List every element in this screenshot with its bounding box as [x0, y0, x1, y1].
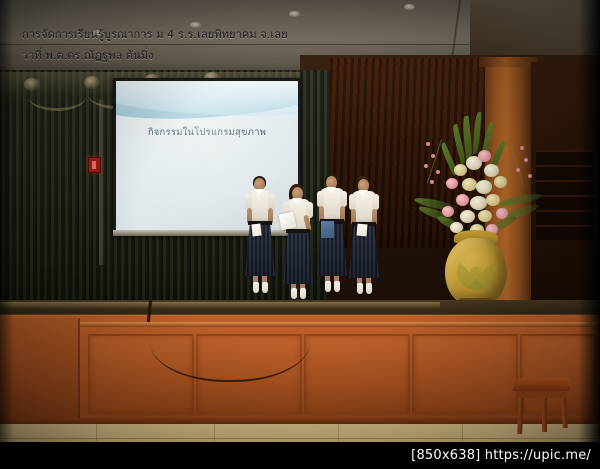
flower-bloom	[484, 164, 499, 177]
student-3	[316, 174, 346, 306]
gold-vase	[445, 238, 507, 304]
sock-shoe	[253, 282, 259, 293]
flower-arrangement	[412, 112, 542, 332]
side-table	[512, 378, 570, 436]
sock-shoe	[334, 281, 340, 292]
shirt-sleeve	[372, 194, 379, 210]
sock-shoe	[300, 288, 306, 299]
sock-shoe	[357, 283, 363, 294]
school-skirt	[283, 232, 313, 284]
shirt-sleeve	[245, 193, 252, 209]
door-frame-edge	[99, 100, 105, 265]
valance-ornament	[24, 78, 40, 91]
paper-script	[279, 212, 297, 231]
student-4	[348, 176, 378, 308]
ceiling-seam	[0, 44, 470, 45]
student-1	[244, 176, 274, 306]
pillar-cap	[479, 57, 537, 67]
flower-bloom	[456, 194, 469, 206]
flower-bud	[516, 168, 520, 172]
downlight-icon	[289, 11, 300, 17]
sock-shoe	[366, 283, 372, 294]
flower-bud	[431, 154, 435, 158]
flower-bloom	[446, 178, 458, 189]
paper-sheet	[356, 224, 367, 237]
floor-grout-line	[0, 438, 600, 439]
table-leg	[517, 398, 524, 434]
audio-cable	[150, 300, 310, 382]
paper-sheet	[251, 224, 261, 237]
valance-ornament	[84, 76, 100, 89]
flower-bud	[520, 146, 524, 150]
flower-bloom	[478, 150, 491, 162]
shirt-sleeve	[349, 194, 356, 210]
shirt-sleeve	[340, 191, 347, 207]
sock-shoe	[262, 282, 268, 293]
flower-bloom	[496, 208, 508, 219]
flower-bloom	[470, 196, 487, 210]
exit-sign-icon	[88, 157, 101, 173]
flower-bloom	[462, 178, 477, 191]
flower-bud	[424, 164, 428, 168]
flower-bloom	[476, 180, 492, 194]
table-apron	[516, 391, 566, 398]
flower-bloom	[442, 206, 454, 217]
caption-line-2: ว่าที่ พ.ต.ดร.ณัฏฐพล ตันมิ่ง	[22, 50, 154, 62]
sock-shoe	[291, 288, 297, 299]
downlight-icon	[404, 4, 415, 10]
watermark-text: [850x638] https://upic.me/	[411, 448, 591, 463]
auditorium-scene: กิจกรรมในโปรแกรมสุขภาพ	[0, 0, 600, 469]
belt	[286, 229, 310, 233]
flower-bud	[528, 174, 532, 178]
watermark-bar: [850x638] https://upic.me/	[0, 442, 600, 469]
photo-frame: กิจกรรมในโปรแกรมสุขภาพ	[0, 0, 600, 469]
table-leg	[561, 398, 568, 428]
slide-title: กิจกรรมในโปรแกรมสุขภาพ	[116, 125, 298, 140]
stage-step	[0, 318, 80, 428]
flower-bud	[426, 142, 430, 146]
blue-folder	[321, 221, 334, 238]
vase-motif	[457, 254, 495, 290]
flower-bloom	[494, 176, 507, 188]
stage-panel	[412, 334, 518, 416]
shirt-sleeve	[268, 193, 275, 209]
sock-shoe	[325, 281, 331, 292]
flower-bloom	[486, 194, 500, 206]
student-2	[282, 184, 312, 310]
flower-bud	[524, 158, 528, 162]
stage-panel	[304, 334, 410, 416]
table-leg	[542, 398, 547, 432]
wall-texture	[536, 150, 594, 240]
flower-bud	[436, 170, 440, 174]
table-top	[512, 378, 570, 391]
flower-bud	[430, 180, 434, 184]
shirt-sleeve	[317, 191, 324, 207]
leaf	[473, 112, 482, 154]
flower-bloom	[460, 210, 475, 223]
caption-line-1: การจัดการเรียนรู้บูรณาการ ม 4 ร.ร.เลยพิท…	[22, 29, 288, 41]
flower-bloom	[454, 164, 467, 176]
flower-bloom	[478, 210, 492, 222]
